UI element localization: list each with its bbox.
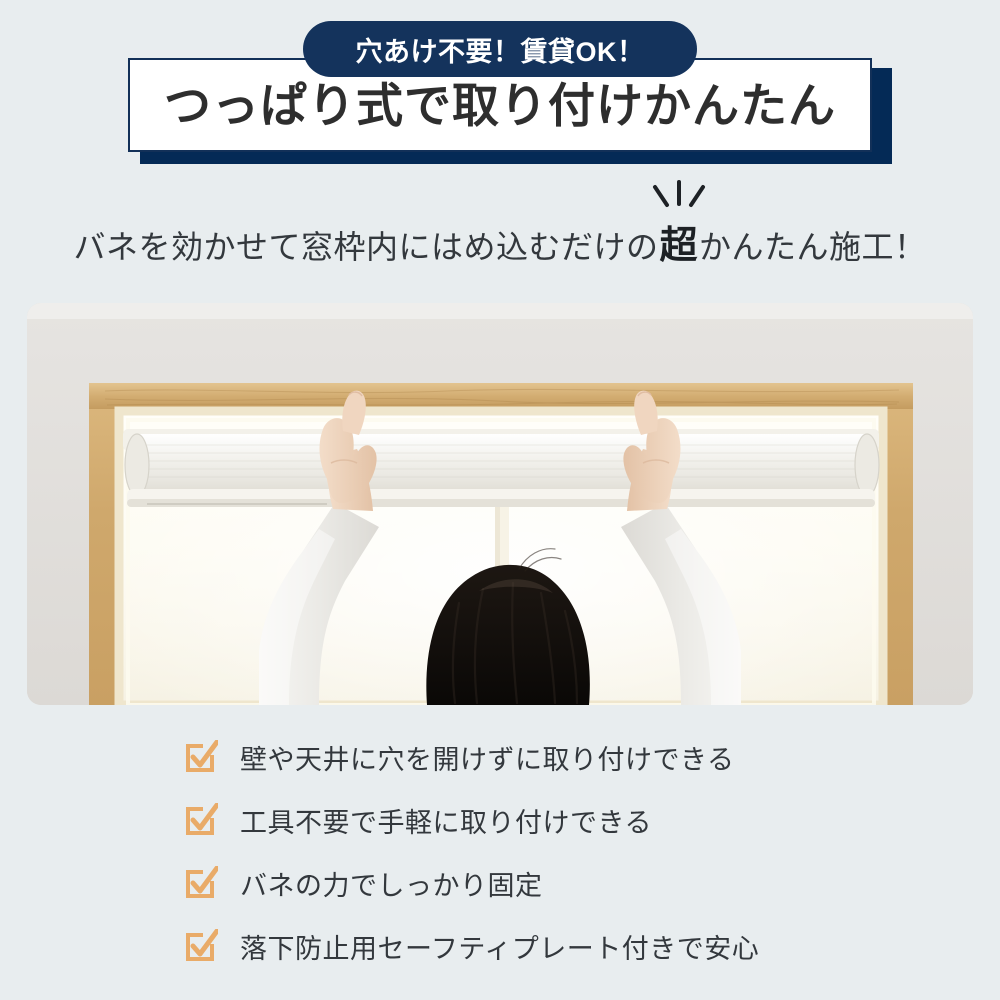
feature-list: 壁や天井に穴を開けずに取り付けできる 工具不要で手軽に取り付けできる バネの力で… [0, 726, 1000, 978]
installation-photo [27, 303, 973, 705]
list-item: 壁や天井に穴を開けずに取り付けできる [0, 726, 1000, 789]
list-item: 落下防止用セーフティプレート付きで安心 [0, 915, 1000, 978]
subtitle-text-before: バネを効かせて窓枠内にはめ込むだけの [73, 222, 658, 268]
list-item: バネの力でしっかり固定 [0, 852, 1000, 915]
subtitle: バネを効かせて窓枠内にはめ込むだけの 超 かんたん施工！ [73, 214, 926, 269]
checkbox-check-icon [184, 929, 218, 963]
checkbox-check-icon [184, 866, 218, 900]
page-title: つっぱり式で取り付けかんたん [164, 82, 836, 129]
list-item-label: 工具不要で手軽に取り付けできる [240, 801, 652, 840]
promo-badge: 穴あけ不要！賃貸OK！ [303, 21, 697, 77]
checkbox-check-icon [184, 803, 218, 837]
list-item: 工具不要で手軽に取り付けできる [0, 789, 1000, 852]
subtitle-text-after: かんたん施工！ [699, 222, 927, 268]
list-item-label: バネの力でしっかり固定 [240, 864, 543, 903]
list-item-label: 壁や天井に穴を開けずに取り付けできる [240, 738, 734, 777]
header-block: つっぱり式で取り付けかんたん 穴あけ不要！賃貸OK！ [0, 0, 1000, 180]
promo-badge-label: 穴あけ不要！賃貸OK！ [356, 30, 645, 69]
sparkle-lines-icon [648, 180, 710, 212]
subtitle-row: バネを効かせて窓枠内にはめ込むだけの 超 かんたん施工！ [0, 214, 1000, 268]
subtitle-emphasis: 超 [658, 225, 699, 267]
subtitle-emphasis-wrap: 超 [658, 214, 699, 269]
list-item-label: 落下防止用セーフティプレート付きで安心 [240, 927, 759, 966]
checkbox-check-icon [184, 740, 218, 774]
